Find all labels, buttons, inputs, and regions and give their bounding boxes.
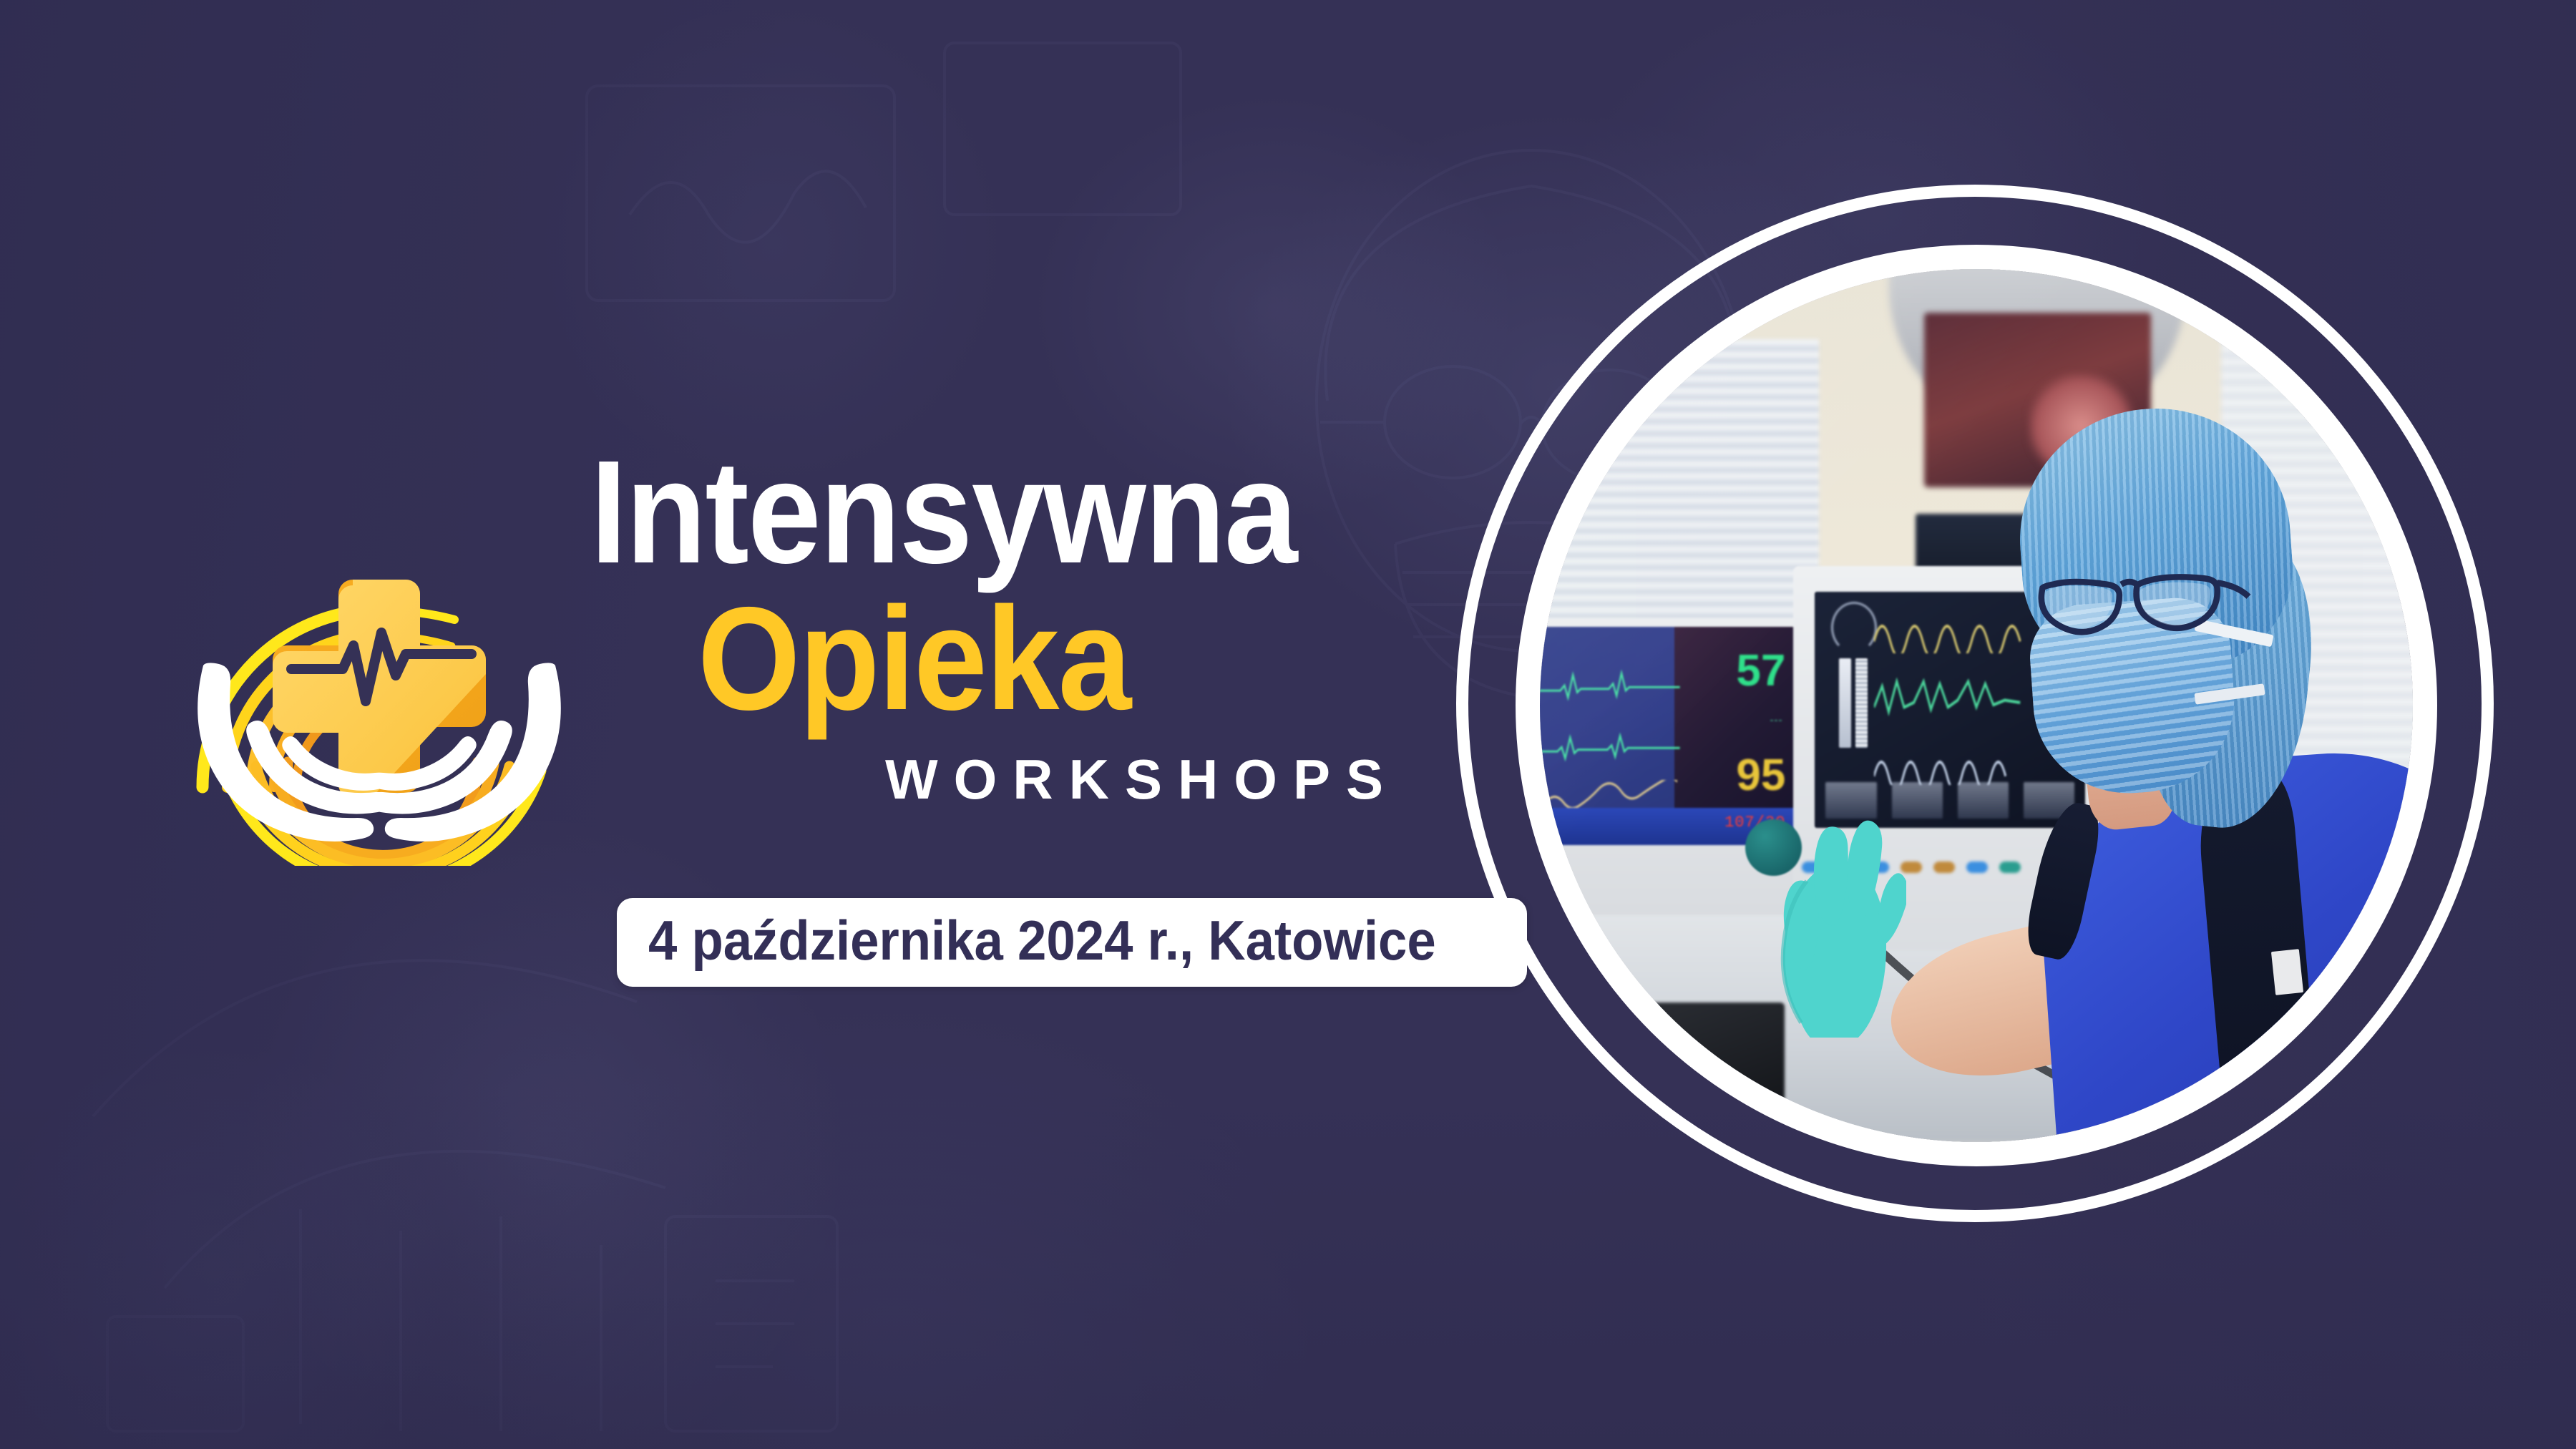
- event-banner: Intensywna Opieka WORKSHOPS 4 październi…: [0, 0, 2576, 1449]
- title-line-intensywna: Intensywna: [590, 444, 1382, 582]
- photo-vest-tape: [2271, 949, 2303, 995]
- title-line-opieka: Opieka: [698, 587, 1393, 731]
- intensywna-opieka-logo-icon: [179, 451, 580, 866]
- date-location-badge: 4 października 2024 r., Katowice: [617, 898, 1527, 987]
- photo-gloved-hand: [1758, 810, 1906, 1037]
- photo-medical-professional: [1540, 269, 2413, 1142]
- photo-eyeglasses: [2029, 562, 2255, 640]
- title-line-workshops: WORKSHOPS: [885, 751, 1470, 807]
- icu-nurse-photo: 57 --- 95 107/30: [1540, 269, 2413, 1142]
- date-location-text: 4 października 2024 r., Katowice: [648, 912, 1436, 968]
- event-title: Intensywna Opieka WORKSHOPS: [590, 444, 1470, 807]
